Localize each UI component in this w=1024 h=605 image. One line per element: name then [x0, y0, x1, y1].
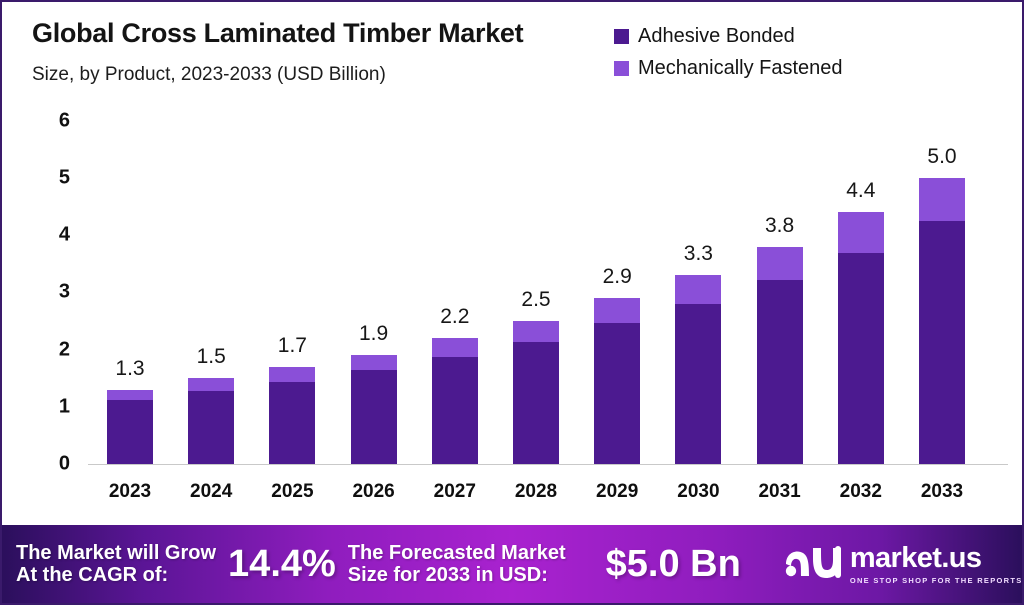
- y-axis-tick-label: 3: [59, 281, 70, 304]
- x-axis-tick-label: 2032: [840, 481, 882, 503]
- market-us-logo-text: market.us ONE STOP SHOP FOR THE REPORTS: [850, 544, 1022, 585]
- chart-subtitle: Size, by Product, 2023-2033 (USD Billion…: [32, 64, 386, 86]
- cagr-label-line2: At the CAGR of:: [16, 564, 216, 586]
- forecast-value: $5.0 Bn: [606, 543, 741, 586]
- legend-swatch-icon: [614, 61, 629, 76]
- bar-series-container: 1.320231.520241.720251.920262.220272.520…: [88, 107, 1018, 517]
- bar-group[interactable]: 2.22027: [432, 338, 478, 464]
- bar-value-label: 1.7: [278, 334, 307, 358]
- bar-group[interactable]: 3.32030: [675, 275, 721, 464]
- chart-screenshot: Global Cross Laminated Timber Market Siz…: [0, 0, 1024, 605]
- bar-segment-adhesive-bonded[interactable]: [188, 391, 234, 464]
- y-axis-tick-label: 2: [59, 338, 70, 361]
- bar-segment-mechanically-fastened[interactable]: [107, 390, 153, 400]
- chart-header: Global Cross Laminated Timber Market Siz…: [2, 2, 1024, 107]
- bar-group[interactable]: 3.82031: [757, 247, 803, 464]
- bar-group[interactable]: 1.32023: [107, 390, 153, 464]
- bar-segment-adhesive-bonded[interactable]: [675, 304, 721, 464]
- forecast-label-line1: The Forecasted Market: [348, 542, 566, 564]
- bar-group[interactable]: 4.42032: [838, 212, 884, 464]
- bar-segment-mechanically-fastened[interactable]: [838, 212, 884, 253]
- bar-segment-mechanically-fastened[interactable]: [269, 367, 315, 382]
- bar-group[interactable]: 1.92026: [351, 355, 397, 464]
- bar-group[interactable]: 2.92029: [594, 298, 640, 464]
- bar-segment-adhesive-bonded[interactable]: [107, 400, 153, 464]
- bar-segment-mechanically-fastened[interactable]: [757, 247, 803, 280]
- x-axis-tick-label: 2029: [596, 481, 638, 503]
- market-us-logo-mark-icon: [783, 542, 841, 587]
- bar-value-label: 4.4: [846, 179, 875, 203]
- x-axis-tick-label: 2024: [190, 481, 232, 503]
- legend-swatch-icon: [614, 29, 629, 44]
- bar-segment-mechanically-fastened[interactable]: [432, 338, 478, 357]
- bar-value-label: 2.5: [521, 288, 550, 312]
- logo-tagline: ONE STOP SHOP FOR THE REPORTS: [850, 576, 1022, 585]
- legend-item-adhesive-bonded: Adhesive Bonded: [614, 22, 843, 50]
- bar-segment-adhesive-bonded[interactable]: [757, 280, 803, 464]
- bar-value-label: 1.5: [197, 345, 226, 369]
- legend-item-mechanically-fastened: Mechanically Fastened: [614, 54, 843, 82]
- x-axis-tick-label: 2031: [758, 481, 800, 503]
- bar-segment-adhesive-bonded[interactable]: [432, 357, 478, 464]
- bar-segment-mechanically-fastened[interactable]: [919, 178, 965, 221]
- bar-segment-mechanically-fastened[interactable]: [675, 275, 721, 304]
- x-axis-tick-label: 2033: [921, 481, 963, 503]
- x-axis-tick-label: 2030: [677, 481, 719, 503]
- bar-segment-adhesive-bonded[interactable]: [594, 323, 640, 464]
- bar-segment-adhesive-bonded[interactable]: [513, 342, 559, 464]
- y-axis-tick-label: 0: [59, 453, 70, 476]
- forecast-label: The Forecasted Market Size for 2033 in U…: [348, 542, 566, 587]
- logo-wordmark: market.us: [850, 544, 1022, 573]
- cagr-label-line1: The Market will Grow: [16, 542, 216, 564]
- bar-segment-mechanically-fastened[interactable]: [188, 378, 234, 391]
- bar-segment-mechanically-fastened[interactable]: [594, 298, 640, 323]
- bar-group[interactable]: 1.52024: [188, 378, 234, 464]
- x-axis-tick-label: 2027: [434, 481, 476, 503]
- y-axis-tick-label: 1: [59, 395, 70, 418]
- forecast-label-line2: Size for 2033 in USD:: [348, 564, 566, 586]
- x-axis-tick-label: 2025: [271, 481, 313, 503]
- bar-value-label: 5.0: [927, 145, 956, 169]
- bar-value-label: 2.9: [603, 265, 632, 289]
- bar-group[interactable]: 2.52028: [513, 321, 559, 464]
- x-axis-tick-label: 2028: [515, 481, 557, 503]
- bar-value-label: 1.3: [115, 357, 144, 381]
- bar-segment-adhesive-bonded[interactable]: [919, 221, 965, 464]
- legend-label: Adhesive Bonded: [638, 25, 795, 48]
- bar-segment-mechanically-fastened[interactable]: [513, 321, 559, 342]
- market-us-logo: market.us ONE STOP SHOP FOR THE REPORTS: [783, 542, 1022, 587]
- y-axis-tick-label: 6: [59, 109, 70, 132]
- cagr-label: The Market will Grow At the CAGR of:: [16, 542, 216, 587]
- x-axis-tick-label: 2023: [109, 481, 151, 503]
- bar-segment-mechanically-fastened[interactable]: [351, 355, 397, 370]
- bar-value-label: 1.9: [359, 322, 388, 346]
- bar-segment-adhesive-bonded[interactable]: [351, 370, 397, 464]
- bar-group[interactable]: 1.72025: [269, 367, 315, 464]
- bar-value-label: 3.8: [765, 214, 794, 238]
- cagr-value: 14.4%: [228, 543, 336, 586]
- bar-value-label: 3.3: [684, 242, 713, 266]
- y-axis-tick-label: 4: [59, 224, 70, 247]
- bar-segment-adhesive-bonded[interactable]: [269, 382, 315, 464]
- y-axis-tick-label: 5: [59, 167, 70, 190]
- y-axis: 0123456: [2, 107, 92, 517]
- bar-group[interactable]: 5.02033: [919, 178, 965, 464]
- page-title: Global Cross Laminated Timber Market: [32, 18, 523, 49]
- chart-plot-area: 0123456 1.320231.520241.720251.920262.22…: [2, 107, 1024, 517]
- bar-segment-adhesive-bonded[interactable]: [838, 253, 884, 464]
- bar-value-label: 2.2: [440, 305, 469, 329]
- chart-legend: Adhesive Bonded Mechanically Fastened: [614, 22, 843, 86]
- summary-banner: The Market will Grow At the CAGR of: 14.…: [2, 525, 1022, 603]
- legend-label: Mechanically Fastened: [638, 57, 843, 80]
- x-axis-tick-label: 2026: [352, 481, 394, 503]
